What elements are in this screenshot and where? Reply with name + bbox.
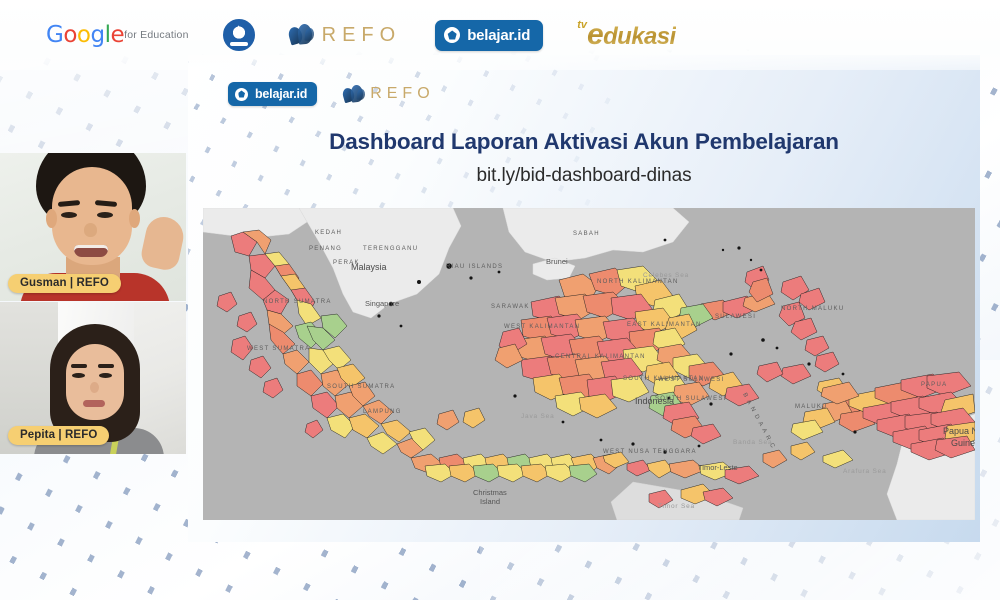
- svg-text:Brunei: Brunei: [546, 257, 568, 266]
- svg-text:Guinea: Guinea: [951, 438, 975, 448]
- svg-text:Christmas: Christmas: [473, 488, 507, 497]
- refo-wordmark: REFO: [322, 24, 402, 47]
- tv-edukasi-wordmark: edukasi: [587, 18, 676, 52]
- svg-text:Malaysia: Malaysia: [351, 262, 387, 272]
- refo-logo: REFO: [289, 23, 402, 47]
- tv-edukasi-prefix: tv: [577, 19, 587, 31]
- google-letter-g: G: [46, 22, 63, 48]
- svg-text:Timor Sea: Timor Sea: [658, 503, 695, 510]
- map-canvas: KEDAH PENANG TERENGGANU PERAK RIAU ISLAN…: [203, 208, 975, 520]
- svg-text:WEST SULAWESI: WEST SULAWESI: [658, 377, 725, 383]
- svg-text:Cocos: Cocos: [315, 518, 337, 520]
- tv-edukasi-initial: e: [587, 18, 603, 51]
- participant-tile-pepita[interactable]: Pepita | REFO: [0, 302, 186, 454]
- google-letter-o1: o: [63, 22, 77, 48]
- belajar-id-logo: belajar.id: [228, 82, 317, 106]
- sponsor-logo-bar: Google for Education REFO belajar.id tv …: [0, 0, 1000, 70]
- belajar-id-wordmark: belajar.id: [255, 87, 307, 101]
- svg-text:WEST KALIMANTAN: WEST KALIMANTAN: [504, 324, 580, 330]
- refo-wave-icon: [289, 23, 315, 47]
- google-for-education-logo: Google for Education: [46, 24, 189, 47]
- svg-text:NORTH MALUKU: NORTH MALUKU: [781, 306, 845, 312]
- belajar-id-shield-icon: [235, 88, 248, 101]
- tv-edukasi-rest: dukasi: [603, 23, 675, 50]
- participant-tile-gusman[interactable]: Gusman | REFO: [0, 153, 186, 301]
- refo-wave-icon: [343, 84, 365, 104]
- svg-text:Banda Sea: Banda Sea: [733, 439, 772, 446]
- tv-edukasi-logo: tv edukasi: [577, 18, 675, 52]
- svg-text:WEST NUSA TENGGARA: WEST NUSA TENGGARA: [603, 449, 697, 455]
- svg-text:RIAU ISLANDS: RIAU ISLANDS: [446, 264, 503, 270]
- svg-text:Indonesia: Indonesia: [635, 396, 674, 406]
- google-letter-g2: g: [90, 22, 104, 48]
- refo-wordmark: REFO: [370, 85, 434, 103]
- belajar-id-logo: belajar.id: [435, 20, 543, 51]
- svg-text:KEDAH: KEDAH: [315, 230, 342, 236]
- svg-text:Timor-Leste: Timor-Leste: [698, 463, 738, 472]
- svg-text:Singapore: Singapore: [365, 299, 399, 308]
- svg-text:Papua New: Papua New: [943, 426, 975, 436]
- svg-text:Island: Island: [480, 497, 500, 506]
- meeting-screen: Google for Education REFO belajar.id tv …: [0, 0, 1000, 600]
- indonesia-choropleth-map[interactable]: KEDAH PENANG TERENGGANU PERAK RIAU ISLAN…: [203, 208, 975, 520]
- svg-text:EAST KALIMANTAN: EAST KALIMANTAN: [627, 322, 702, 328]
- kemdikbud-logo: [223, 19, 255, 51]
- svg-text:SULAWESI: SULAWESI: [715, 314, 756, 320]
- participant-name-badge: Gusman | REFO: [8, 274, 121, 293]
- svg-text:MALUKU: MALUKU: [795, 404, 828, 410]
- google-letter-e: e: [110, 22, 124, 48]
- svg-text:NORTH SUMATRA: NORTH SUMATRA: [263, 299, 332, 305]
- svg-text:NORTH KALIMANTAN: NORTH KALIMANTAN: [597, 279, 679, 285]
- svg-text:PENANG: PENANG: [309, 246, 342, 252]
- svg-text:WEST SUMATRA: WEST SUMATRA: [247, 346, 310, 352]
- belajar-id-wordmark: belajar.id: [467, 27, 530, 44]
- kemdikbud-seal-icon: [223, 19, 255, 51]
- participant-name-badge: Pepita | REFO: [8, 426, 109, 445]
- shared-slide[interactable]: belajar.id REFO Dashboard Laporan Aktiva…: [188, 55, 980, 542]
- svg-text:TERENGGANU: TERENGGANU: [363, 246, 418, 252]
- svg-text:SABAH: SABAH: [573, 231, 600, 237]
- svg-text:SOUTH SUMATRA: SOUTH SUMATRA: [327, 384, 395, 390]
- svg-text:Arafura Sea: Arafura Sea: [843, 468, 887, 475]
- slide-logo-row: belajar.id REFO: [228, 82, 435, 106]
- slide-title: Dashboard Laporan Aktivasi Akun Pembelaj…: [188, 129, 980, 155]
- slide-subtitle-link: bit.ly/bid-dashboard-dinas: [188, 165, 980, 187]
- svg-text:Celebes Sea: Celebes Sea: [643, 272, 689, 279]
- svg-text:SARAWAK: SARAWAK: [491, 304, 530, 310]
- svg-text:PAPUA: PAPUA: [921, 382, 947, 388]
- belajar-id-shield-icon: [444, 27, 460, 43]
- refo-logo: REFO: [343, 84, 434, 104]
- google-letter-o2: o: [77, 22, 91, 48]
- svg-text:CENTRAL KALIMANTAN: CENTRAL KALIMANTAN: [555, 354, 646, 360]
- google-for-education-sublabel: for Education: [124, 30, 188, 41]
- svg-text:LAMPUNG: LAMPUNG: [363, 409, 402, 415]
- svg-text:Java Sea: Java Sea: [521, 413, 555, 420]
